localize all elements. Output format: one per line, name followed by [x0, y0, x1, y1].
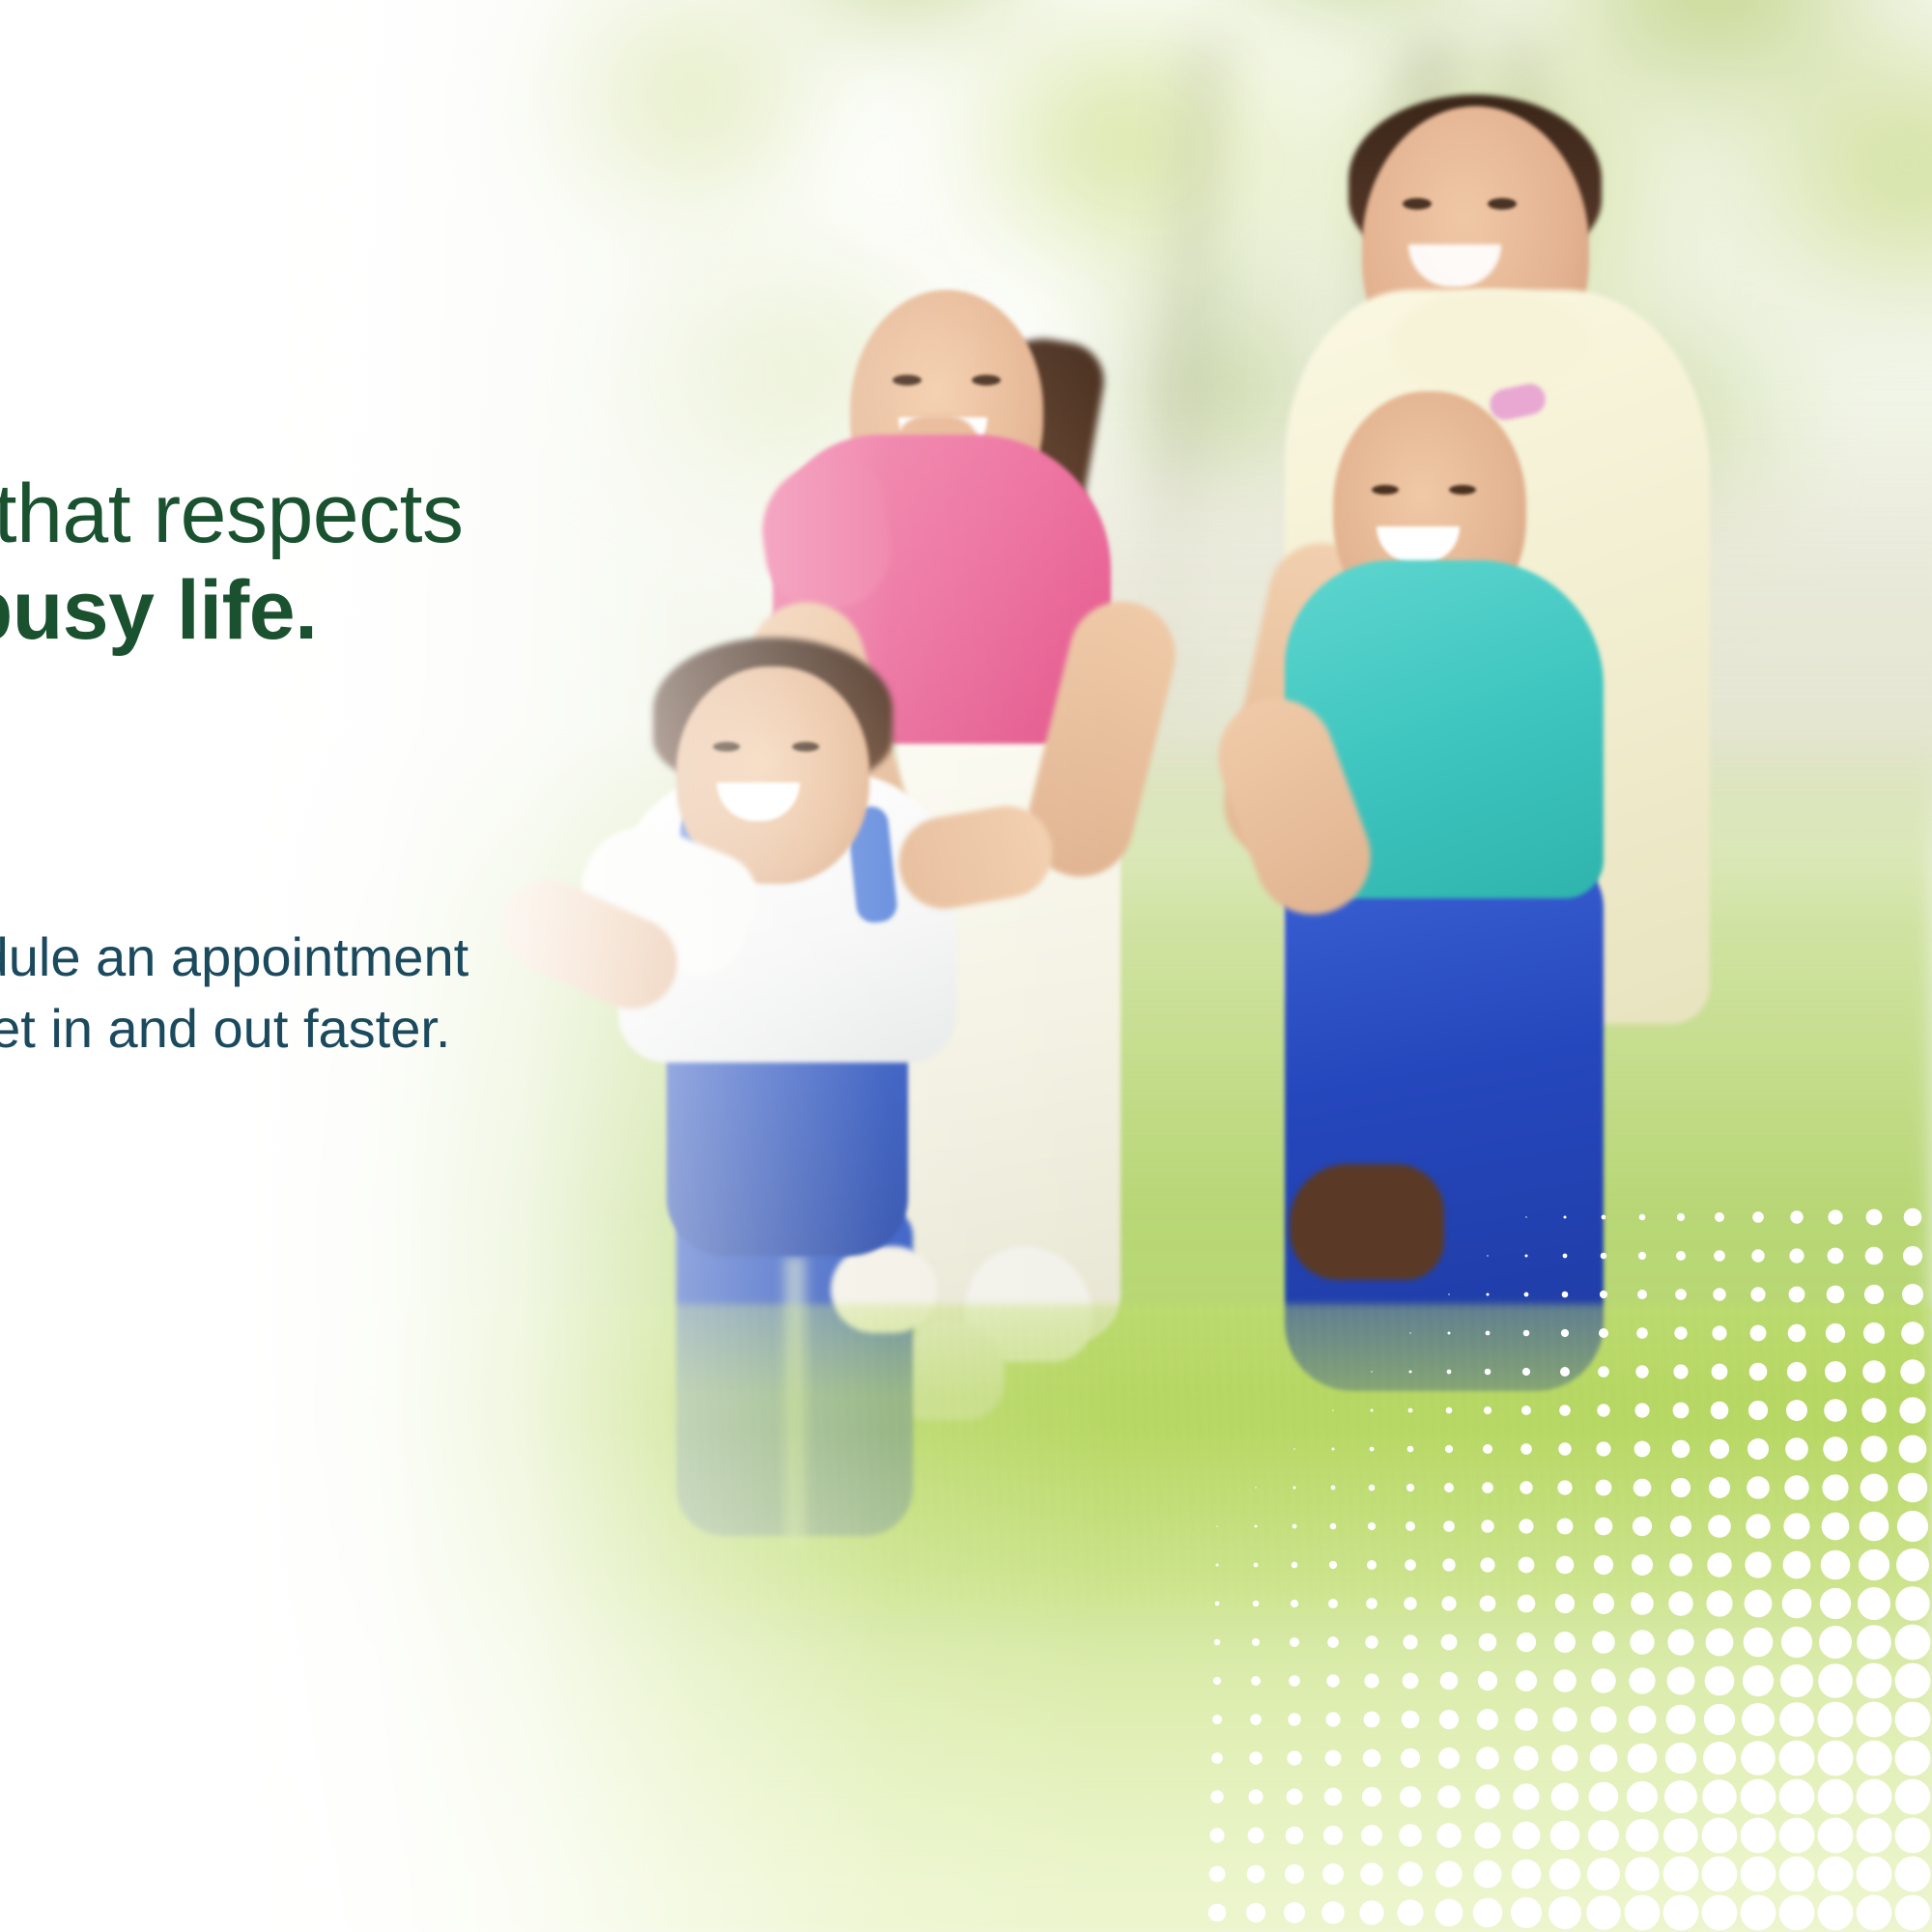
father-collar	[1391, 290, 1594, 396]
girl-eye-right	[1449, 485, 1476, 495]
grass-blades	[0, 1304, 1932, 1613]
boy-eye-left	[713, 742, 740, 752]
headline-line-2: your busy life.	[0, 562, 746, 660]
grass-foreground-blur	[0, 1584, 1932, 1932]
subcopy-line-2: and get in and out faster.	[0, 993, 821, 1065]
girl-shoe	[1290, 1164, 1444, 1280]
mother-eye-right	[972, 375, 1001, 385]
headline-suffix: that respects	[0, 468, 464, 560]
page-title: A lab that respects your busy life.	[0, 466, 746, 660]
subcopy-line-1: Schedule an appointment	[0, 922, 821, 993]
hero-banner: A lab that respects your busy life. Sche…	[0, 0, 1932, 1932]
father-eye-left	[1403, 198, 1432, 210]
headline-emphasis-busy-life: busy life.	[0, 564, 317, 657]
father-eye-right	[1488, 198, 1517, 210]
boy-eye-right	[792, 742, 819, 752]
hero-subcopy: Schedule an appointment and get in and o…	[0, 922, 821, 1065]
headline-line-1: A lab that respects	[0, 466, 746, 563]
mother-eye-left	[893, 375, 922, 385]
girl-eye-left	[1372, 485, 1399, 495]
